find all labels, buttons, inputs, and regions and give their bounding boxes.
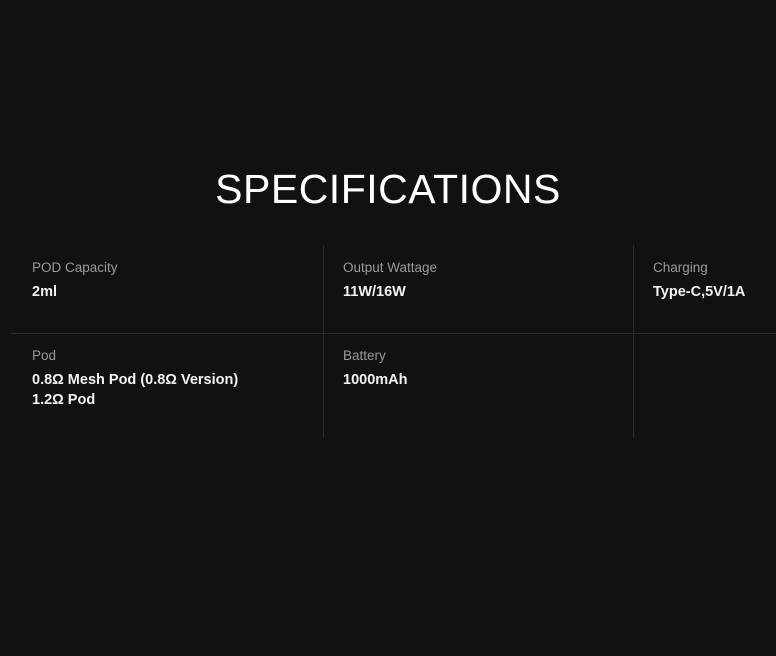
spec-value: Type-C,5V/1A [653, 283, 776, 302]
page-title-container: SPECIFICATIONS [0, 136, 776, 243]
spec-cell-empty [633, 333, 776, 437]
table-row: POD Capacity 2ml Output Wattage 11W/16W … [0, 245, 776, 333]
spec-label: POD Capacity [32, 259, 323, 277]
specifications-table: POD Capacity 2ml Output Wattage 11W/16W … [0, 245, 776, 437]
spec-cell-charging: Charging Type-C,5V/1A [633, 245, 776, 333]
spec-cell-pod: Pod 0.8Ω Mesh Pod (0.8Ω Version) 1.2Ω Po… [0, 333, 323, 437]
spec-cell-battery: Battery 1000mAh [323, 333, 633, 437]
page-title: SPECIFICATIONS [215, 163, 561, 215]
spec-value: 0.8Ω Mesh Pod (0.8Ω Version) [32, 371, 323, 390]
spec-value: 11W/16W [343, 283, 633, 302]
spec-label: Charging [653, 259, 776, 277]
spec-value: 2ml [32, 283, 323, 302]
spec-value: 1000mAh [343, 371, 633, 390]
spec-cell-output-wattage: Output Wattage 11W/16W [323, 245, 633, 333]
specifications-page: SPECIFICATIONS POD Capacity 2ml Output W… [0, 0, 776, 656]
spec-label: Pod [32, 347, 323, 365]
spec-label: Output Wattage [343, 259, 633, 277]
spec-cell-pod-capacity: POD Capacity 2ml [0, 245, 323, 333]
spec-label: Battery [343, 347, 633, 365]
table-row: Pod 0.8Ω Mesh Pod (0.8Ω Version) 1.2Ω Po… [0, 333, 776, 437]
spec-value: 1.2Ω Pod [32, 391, 323, 410]
